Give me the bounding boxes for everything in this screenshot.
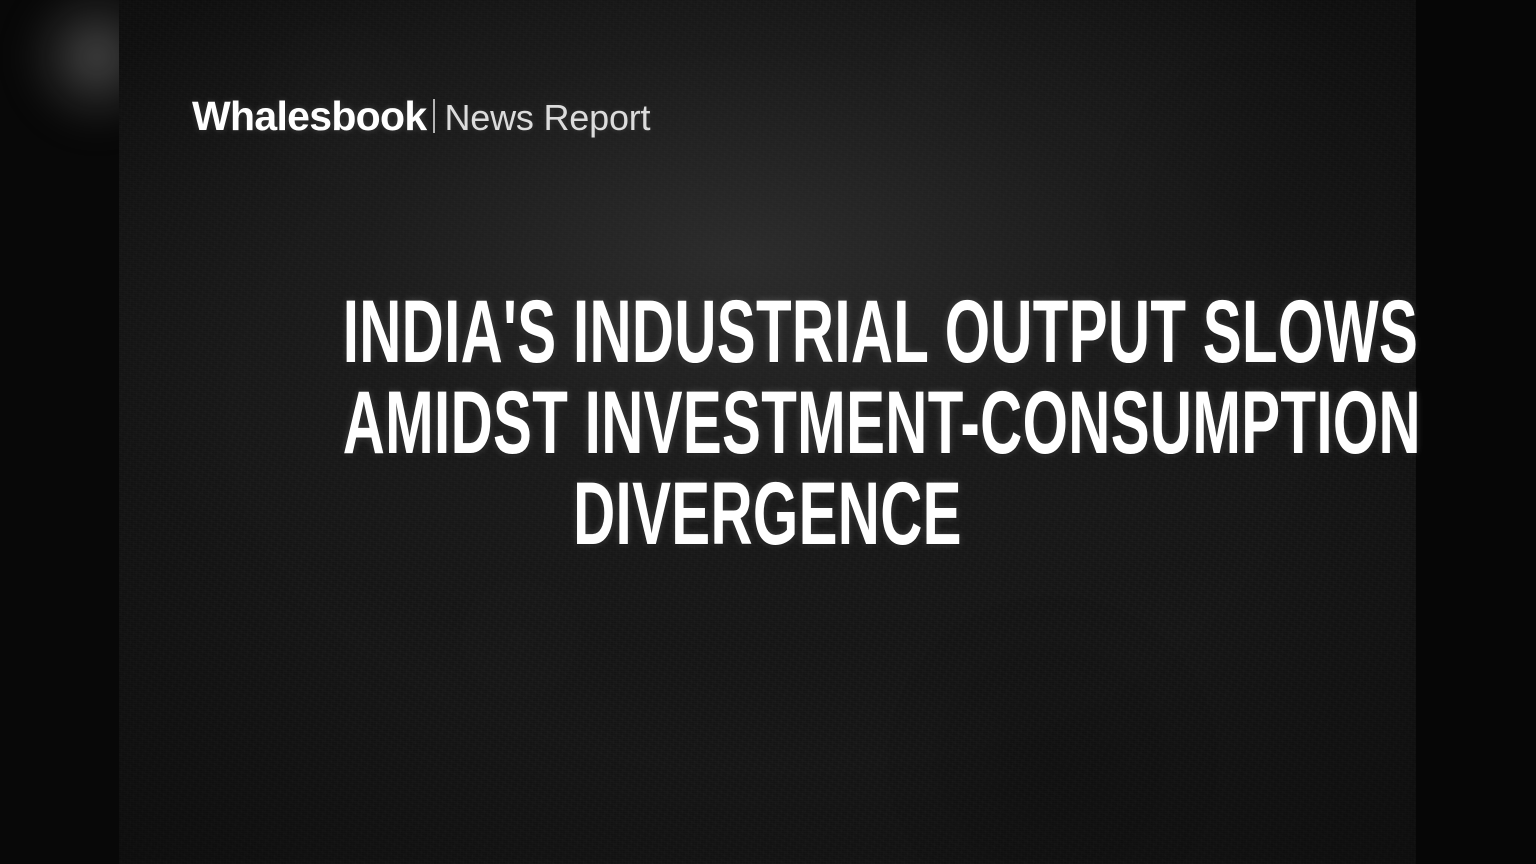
brand-divider xyxy=(433,99,435,133)
brand-subtitle: News Report xyxy=(444,100,650,136)
brand-logo: Whalesbook News Report xyxy=(192,96,650,137)
headline: INDIA'S INDUSTRIAL OUTPUT SLOWS AMIDST I… xyxy=(119,286,1416,559)
headline-line-3: DIVERGENCE xyxy=(343,468,1193,559)
headline-line-2: AMIDST INVESTMENT-CONSUMPTION xyxy=(343,377,1193,468)
news-report-card: Whalesbook News Report INDIA'S INDUSTRIA… xyxy=(0,0,1536,864)
headline-line-1: INDIA'S INDUSTRIAL OUTPUT SLOWS xyxy=(343,286,1193,377)
content-layer: Whalesbook News Report INDIA'S INDUSTRIA… xyxy=(0,0,1536,864)
brand-name: Whalesbook xyxy=(192,96,426,137)
